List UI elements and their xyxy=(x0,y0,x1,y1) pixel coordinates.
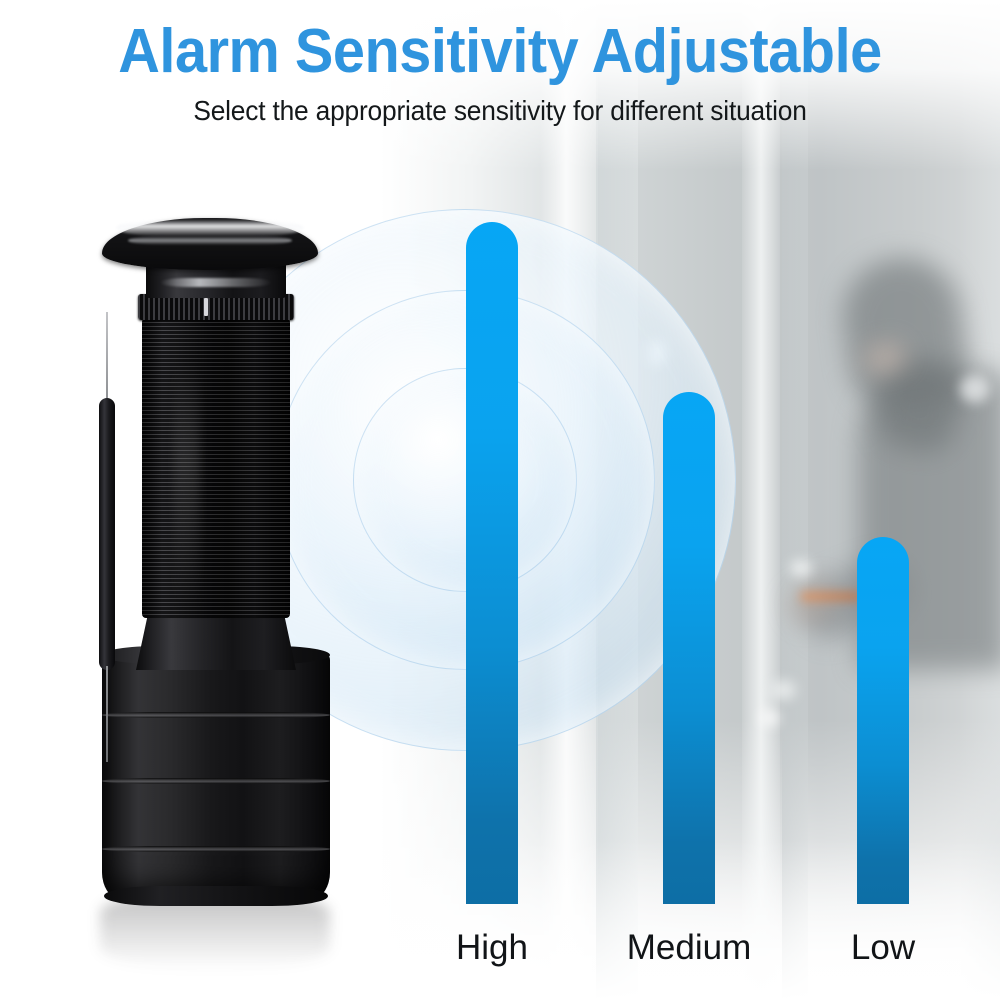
bar-label-medium: Medium xyxy=(589,928,789,968)
glass-highlight-5 xyxy=(760,710,780,726)
glass-highlight-3 xyxy=(770,680,796,700)
base-seam-3 xyxy=(102,846,330,852)
bar-label-low: Low xyxy=(783,928,983,968)
alarm-device-product-image xyxy=(80,210,340,950)
neck-shine-highlight xyxy=(160,278,272,287)
barrel-gloss-highlight xyxy=(174,360,200,610)
glass-panel-4 xyxy=(782,0,808,1000)
device-taper xyxy=(136,610,296,670)
sensitivity-index-mark xyxy=(204,298,208,316)
glass-panel-1 xyxy=(540,0,598,1000)
heading-block: Alarm Sensitivity Adjustable Select the … xyxy=(0,0,1000,127)
page-title: Alarm Sensitivity Adjustable xyxy=(35,0,965,83)
glass-panel-2 xyxy=(596,0,638,1000)
reset-pin-wire-top xyxy=(106,312,108,400)
product-feature-banner: High Medium Low Alarm Sensitivity Adjust… xyxy=(0,0,1000,1000)
reset-pin-handle[interactable] xyxy=(99,398,115,670)
base-seam-2 xyxy=(102,778,330,784)
bar-label-high: High xyxy=(392,928,592,968)
base-seam-1 xyxy=(102,712,330,718)
cap-highlight-secondary xyxy=(128,236,292,245)
device-base xyxy=(102,650,330,900)
glass-panel-3 xyxy=(742,0,780,1000)
base-bottom-rim xyxy=(104,886,328,906)
door-handle xyxy=(800,592,862,601)
glass-highlight-1 xyxy=(648,340,666,366)
device-ribbed-barrel xyxy=(142,318,290,618)
reset-pin-wire-bottom xyxy=(106,666,108,762)
cap-highlight-primary xyxy=(116,220,304,236)
glass-highlight-2 xyxy=(790,560,812,576)
glass-highlight-4 xyxy=(960,375,990,403)
page-subtitle: Select the appropriate sensitivity for d… xyxy=(30,83,970,127)
